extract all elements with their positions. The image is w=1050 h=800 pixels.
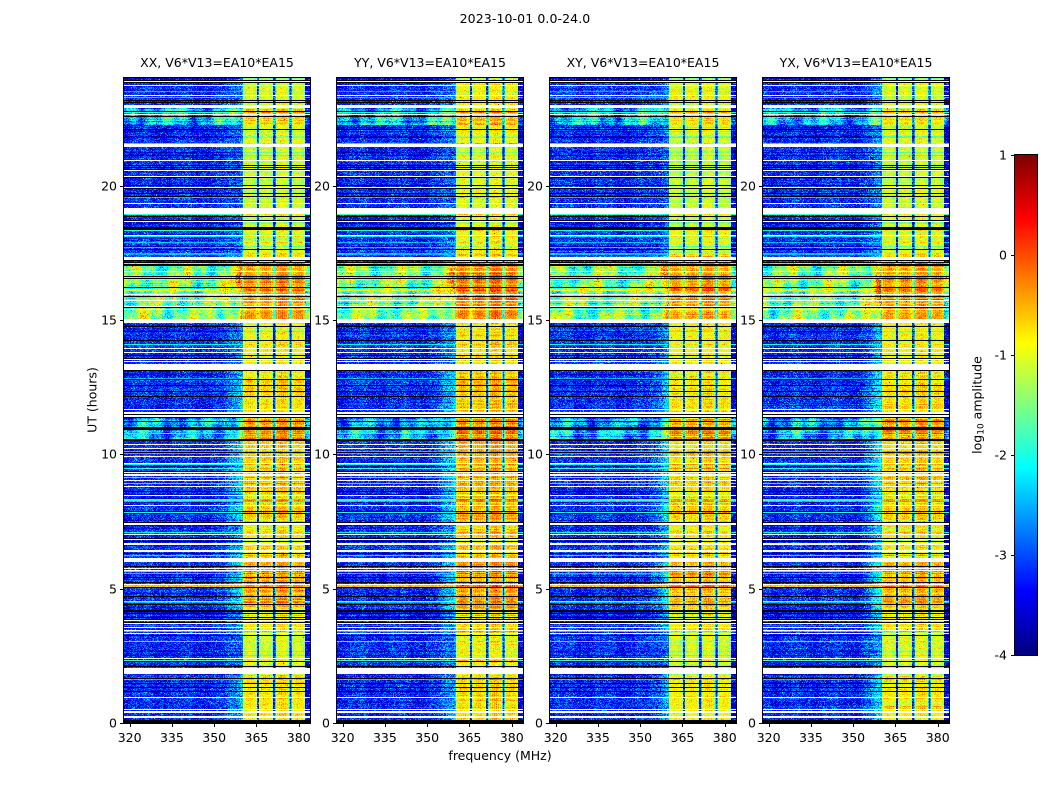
y-tick-label: 10 — [84, 447, 117, 462]
panel-title-xy: XY, V6*V13=EA10*EA15 — [567, 55, 720, 70]
y-tick-label: 20 — [84, 178, 117, 193]
colorbar-tick-mark — [1011, 555, 1015, 556]
y-tick-mark — [120, 186, 124, 187]
x-tick-label: 380 — [287, 730, 311, 745]
y-tick-label: 5 — [297, 581, 330, 596]
x-tick-mark — [811, 723, 812, 727]
y-tick-label: 0 — [510, 716, 543, 731]
y-tick-mark — [759, 454, 763, 455]
x-tick-mark — [343, 723, 344, 727]
y-tick-mark — [120, 589, 124, 590]
panel-yx[interactable]: YX, V6*V13=EA10*EA15 — [763, 78, 949, 723]
y-tick-label: 0 — [297, 716, 330, 731]
y-tick-mark — [333, 589, 337, 590]
x-tick-label: 350 — [628, 730, 652, 745]
y-tick-mark — [120, 723, 124, 724]
panel-title-yy: YY, V6*V13=EA10*EA15 — [354, 55, 506, 70]
y-tick-label: 0 — [84, 716, 117, 731]
panel-title-xx: XX, V6*V13=EA10*EA15 — [140, 55, 294, 70]
panel-yy[interactable]: YY, V6*V13=EA10*EA15 — [337, 78, 523, 723]
x-tick-label: 350 — [415, 730, 439, 745]
x-tick-label: 335 — [586, 730, 610, 745]
x-axis-label: frequency (MHz) — [448, 748, 551, 763]
colorbar-gradient — [1014, 154, 1038, 656]
dynamic-spectrum-yx — [762, 77, 950, 724]
colorbar-tick-label: 1 — [973, 148, 1007, 163]
x-tick-label: 320 — [331, 730, 355, 745]
colorbar-tick-mark — [1011, 155, 1015, 156]
figure-root: 2023-10-01 0.0-24.0 XX, V6*V13=EA10*EA15… — [0, 0, 1050, 800]
y-tick-mark — [759, 320, 763, 321]
y-tick-mark — [120, 320, 124, 321]
x-tick-mark — [427, 723, 428, 727]
x-tick-label: 320 — [544, 730, 568, 745]
x-tick-label: 320 — [757, 730, 781, 745]
y-tick-label: 15 — [84, 312, 117, 327]
x-tick-label: 380 — [926, 730, 950, 745]
x-tick-mark — [853, 723, 854, 727]
x-tick-mark — [130, 723, 131, 727]
dynamic-spectrum-xy — [549, 77, 737, 724]
x-tick-mark — [895, 723, 896, 727]
x-tick-label: 335 — [799, 730, 823, 745]
panel-title-yx: YX, V6*V13=EA10*EA15 — [780, 55, 933, 70]
x-tick-mark — [682, 723, 683, 727]
y-tick-label: 20 — [297, 178, 330, 193]
y-tick-mark — [333, 186, 337, 187]
y-tick-mark — [546, 589, 550, 590]
x-tick-label: 365 — [884, 730, 908, 745]
y-tick-label: 20 — [510, 178, 543, 193]
colorbar-tick-mark — [1011, 255, 1015, 256]
colorbar-tick-mark — [1011, 455, 1015, 456]
colorbar-tick-mark — [1011, 355, 1015, 356]
x-tick-mark — [938, 723, 939, 727]
x-tick-mark — [769, 723, 770, 727]
x-tick-label: 380 — [713, 730, 737, 745]
x-tick-label: 320 — [118, 730, 142, 745]
y-tick-label: 15 — [510, 312, 543, 327]
y-tick-mark — [759, 723, 763, 724]
y-tick-label: 5 — [84, 581, 117, 596]
colorbar[interactable] — [1015, 155, 1037, 655]
colorbar-label-log: log — [969, 435, 984, 454]
x-tick-mark — [385, 723, 386, 727]
x-tick-mark — [598, 723, 599, 727]
y-tick-label: 5 — [510, 581, 543, 596]
y-tick-label: 5 — [723, 581, 756, 596]
x-tick-label: 380 — [500, 730, 524, 745]
x-tick-label: 365 — [671, 730, 695, 745]
y-tick-label: 15 — [297, 312, 330, 327]
y-tick-mark — [333, 320, 337, 321]
panel-xx[interactable]: XX, V6*V13=EA10*EA15 — [124, 78, 310, 723]
x-tick-mark — [556, 723, 557, 727]
y-tick-mark — [546, 723, 550, 724]
y-tick-mark — [546, 454, 550, 455]
colorbar-tick-label: -3 — [973, 548, 1007, 563]
colorbar-tick-label: 0 — [973, 248, 1007, 263]
x-tick-mark — [214, 723, 215, 727]
x-tick-mark — [469, 723, 470, 727]
x-tick-mark — [640, 723, 641, 727]
y-tick-mark — [333, 454, 337, 455]
dynamic-spectrum-xx — [123, 77, 311, 724]
y-tick-mark — [759, 186, 763, 187]
x-tick-label: 350 — [202, 730, 226, 745]
colorbar-tick-mark — [1011, 655, 1015, 656]
x-tick-label: 335 — [373, 730, 397, 745]
y-axis-label: UT (hours) — [85, 367, 100, 433]
y-tick-mark — [759, 589, 763, 590]
y-tick-label: 0 — [723, 716, 756, 731]
colorbar-label-tail: amplitude — [969, 356, 984, 423]
colorbar-label-subscript: 10 — [977, 423, 987, 434]
x-tick-label: 335 — [160, 730, 184, 745]
x-tick-mark — [256, 723, 257, 727]
panel-xy[interactable]: XY, V6*V13=EA10*EA15 — [550, 78, 736, 723]
dynamic-spectrum-yy — [336, 77, 524, 724]
y-tick-label: 10 — [723, 447, 756, 462]
x-tick-label: 350 — [841, 730, 865, 745]
y-tick-mark — [546, 320, 550, 321]
x-tick-mark — [172, 723, 173, 727]
y-tick-label: 20 — [723, 178, 756, 193]
y-tick-mark — [120, 454, 124, 455]
y-tick-mark — [546, 186, 550, 187]
y-tick-mark — [333, 723, 337, 724]
colorbar-tick-label: -4 — [973, 648, 1007, 663]
x-tick-label: 365 — [245, 730, 269, 745]
y-tick-label: 15 — [723, 312, 756, 327]
x-tick-label: 365 — [458, 730, 482, 745]
y-tick-label: 10 — [297, 447, 330, 462]
colorbar-label: log10 amplitude — [969, 356, 986, 454]
y-tick-label: 10 — [510, 447, 543, 462]
figure-suptitle: 2023-10-01 0.0-24.0 — [0, 11, 1050, 26]
